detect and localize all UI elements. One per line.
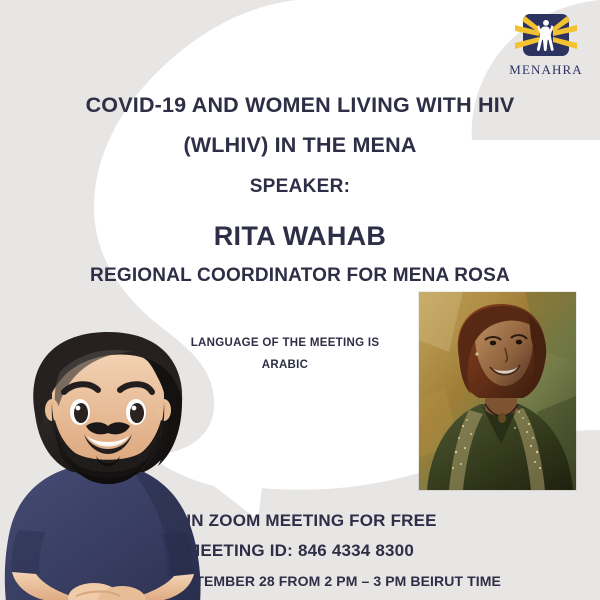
- speaker-photo: [419, 292, 576, 490]
- speaker-photo-artwork: [419, 292, 576, 490]
- cartoon-man-illustration: [0, 330, 224, 600]
- cartoon-man-artwork: [0, 330, 224, 600]
- speaker-role: REGIONAL COORDINATOR FOR MENA ROSA: [0, 262, 600, 290]
- title-line-2: (WLHIV) IN THE MENA: [0, 128, 600, 162]
- speaker-name: RITA WAHAB: [0, 218, 600, 254]
- speaker-label: SPEAKER:: [0, 172, 600, 202]
- menahra-badge-icon: [515, 12, 577, 64]
- title-line-1: COVID-19 AND WOMEN LIVING WITH HIV: [0, 88, 600, 122]
- headline-block: COVID-19 AND WOMEN LIVING WITH HIV (WLHI…: [0, 88, 600, 290]
- menahra-wordmark: MENAHRA: [503, 63, 589, 76]
- menahra-logo: MENAHRA: [503, 12, 589, 88]
- webinar-flyer: MENAHRA COVID-19 AND WOMEN LIVING WITH H…: [0, 0, 600, 600]
